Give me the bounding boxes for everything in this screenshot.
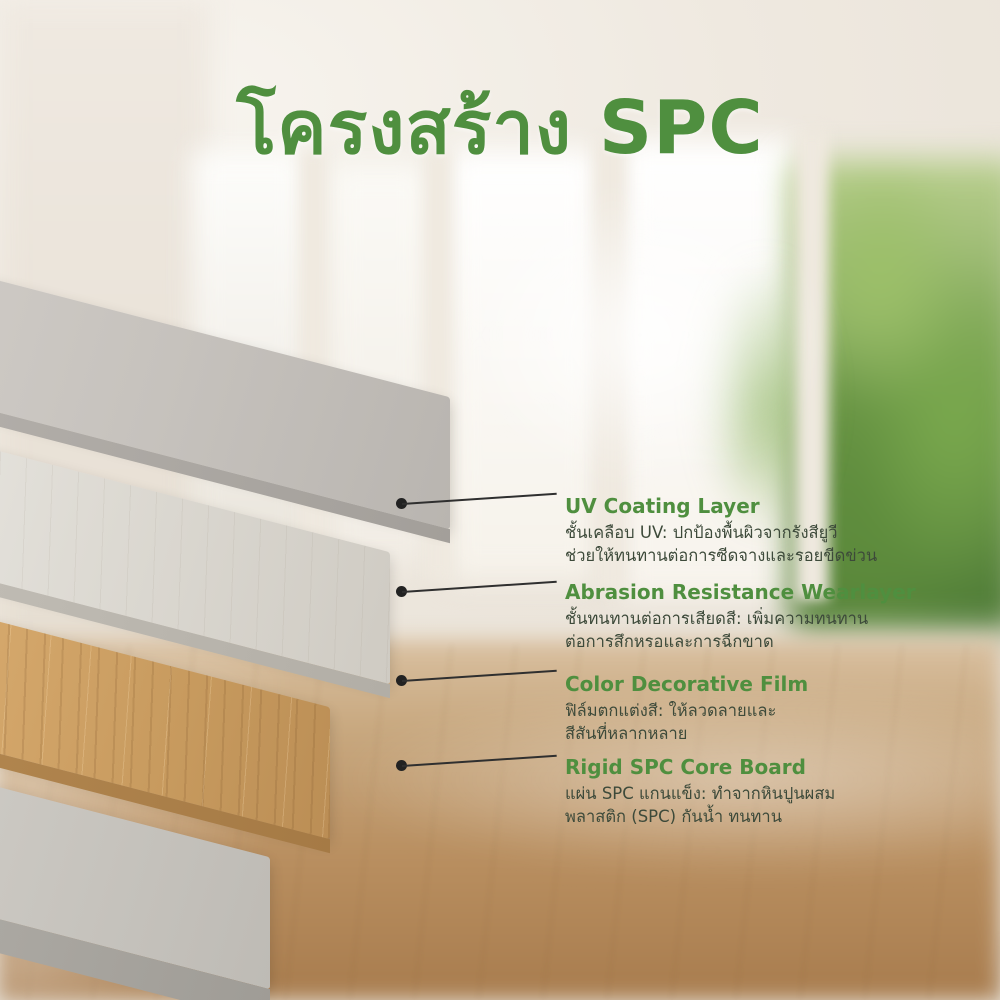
spc-layer-stack [0, 330, 550, 910]
callout-line-2: พลาสติก (SPC) กันน้ำ ทนทาน [565, 806, 965, 829]
callout-color-decorative-film: Color Decorative Film ฟิล์มตกแต่งสี: ให้… [565, 672, 965, 746]
layer-uv-coating [0, 330, 450, 480]
layer-spc-core [0, 790, 270, 940]
callout-title: Color Decorative Film [565, 672, 965, 696]
callout-line-2: ช่วยให้ทนทานต่อการซีดจางและรอยขีดข่วน [565, 545, 965, 568]
callout-uv-coating-layer: UV Coating Layer ชั้นเคลือบ UV: ปกป้องพื… [565, 494, 965, 568]
layer-decorative-film [0, 640, 330, 790]
infographic-canvas: โครงสร้าง SPC UV Coating Layer ชั้ [0, 0, 1000, 1000]
callout-line-1: แผ่น SPC แกนแข็ง: ทำจากหินปูนผสม [565, 783, 965, 806]
layer-wearlayer [0, 485, 390, 635]
page-title: โครงสร้าง SPC [0, 90, 1000, 168]
callout-rigid-spc-core-board: Rigid SPC Core Board แผ่น SPC แกนแข็ง: ท… [565, 755, 965, 829]
callout-abrasion-resistance-wearlayer: Abrasion Resistance Wearlayer ชั้นทนทานต… [565, 580, 965, 654]
callout-line-1: ชั้นทนทานต่อการเสียดสี: เพิ่มความทนทาน [565, 608, 965, 631]
callout-title: Rigid SPC Core Board [565, 755, 965, 779]
callout-title: Abrasion Resistance Wearlayer [565, 580, 965, 604]
callout-title: UV Coating Layer [565, 494, 965, 518]
callout-line-1: ฟิล์มตกแต่งสี: ให้ลวดลายและ [565, 700, 965, 723]
callout-line-2: ต่อการสึกหรอและการฉีกขาด [565, 631, 965, 654]
callout-line-1: ชั้นเคลือบ UV: ปกป้องพื้นผิวจากรังสียูวี [565, 522, 965, 545]
callout-line-2: สีสันที่หลากหลาย [565, 723, 965, 746]
